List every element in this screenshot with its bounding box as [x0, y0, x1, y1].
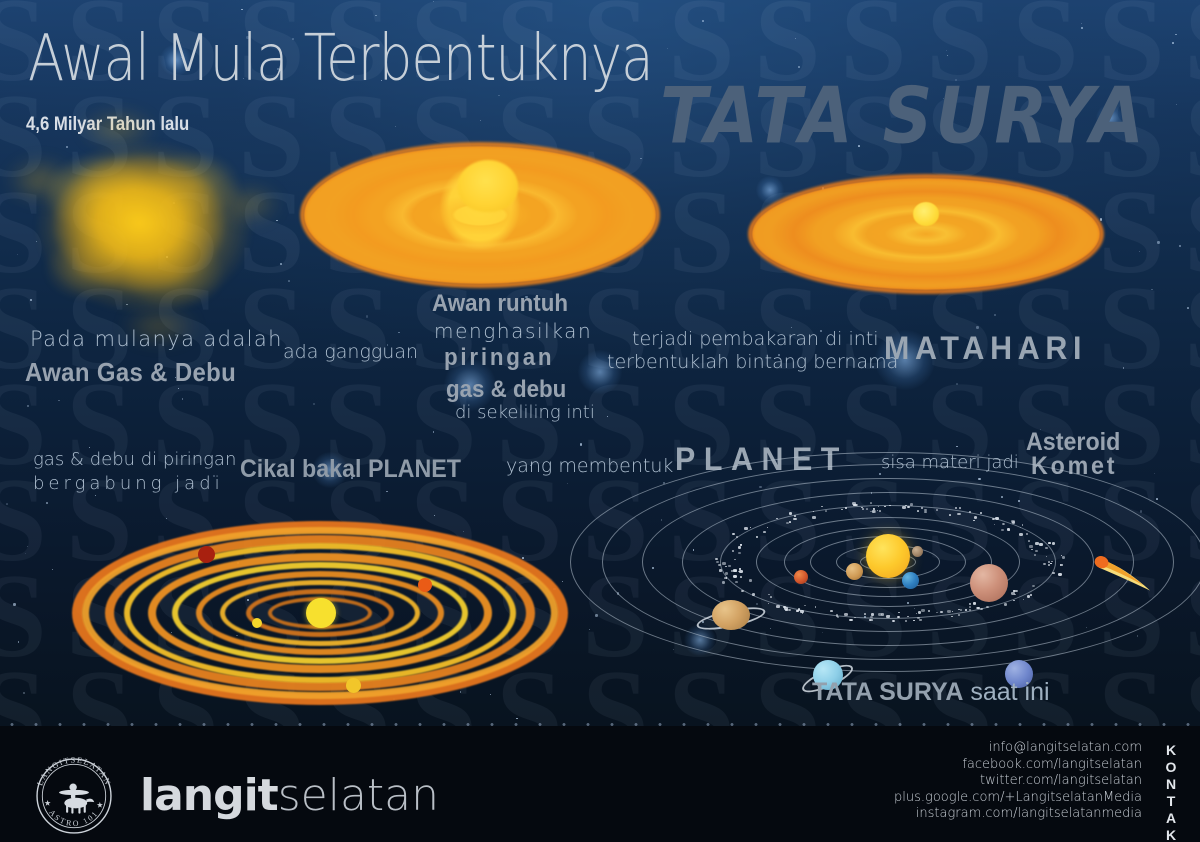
page-title-accent: TATA SURYA	[660, 72, 1147, 162]
asteroid-speck	[756, 536, 758, 537]
asteroid-speck	[1048, 564, 1050, 566]
asteroid-speck	[928, 610, 930, 612]
asteroid-speck	[969, 603, 971, 605]
asteroid-speck	[936, 509, 938, 511]
asteroid-speck	[921, 609, 925, 612]
star	[580, 443, 582, 445]
asteroid-speck	[836, 614, 839, 616]
brand-wordmark-bold: langit	[140, 770, 278, 821]
asteroid-speck	[902, 506, 905, 509]
asteroid-speck	[955, 507, 957, 509]
asteroid-speck	[873, 508, 875, 510]
asteroid-speck	[907, 616, 908, 617]
asteroid-speck	[830, 610, 833, 612]
star	[1100, 218, 1102, 220]
asteroid-speck	[1039, 543, 1042, 546]
star	[58, 400, 60, 402]
star	[798, 66, 800, 68]
footer-bar: LANGITSELATAN ★ ASTRO 101 ★ l	[0, 726, 1200, 842]
sun	[866, 534, 910, 578]
star	[994, 314, 996, 316]
star	[1157, 241, 1159, 243]
brand-wordmark: langitselatan	[140, 770, 439, 821]
asteroid-speck	[1004, 603, 1007, 606]
asteroid-speck	[949, 514, 952, 516]
star	[947, 55, 948, 56]
star	[976, 326, 978, 328]
asteroid-speck	[725, 572, 728, 575]
asteroid-speck	[1052, 572, 1054, 574]
asteroid-speck	[1030, 594, 1032, 596]
mars	[794, 570, 808, 584]
kontak-letter: K	[1160, 742, 1182, 759]
star	[241, 9, 242, 10]
asteroid-speck	[739, 570, 742, 573]
contact-list: info@langitselatan.com facebook.com/lang…	[894, 740, 1142, 823]
star	[589, 629, 590, 630]
contact-facebook[interactable]: facebook.com/langitselatan	[894, 757, 1142, 774]
asteroid-speck	[910, 503, 913, 505]
asteroid-speck	[872, 510, 876, 513]
star	[366, 315, 368, 317]
star	[480, 120, 481, 121]
watermark-letter: S	[1184, 76, 1200, 196]
asteroid-speck	[980, 512, 982, 514]
star	[375, 15, 377, 17]
asteroid-speck	[1029, 545, 1033, 548]
asteroid-speck	[994, 524, 995, 525]
contact-instagram[interactable]: instagram.com/langitselatanmedia	[894, 806, 1142, 823]
stage3-line5: di sekeliling inti	[455, 402, 595, 423]
kontak-letter: T	[1160, 793, 1182, 810]
star	[18, 641, 20, 643]
mercury	[912, 546, 923, 557]
watermark-letter: S	[1098, 268, 1165, 388]
star	[395, 126, 396, 127]
asteroid-speck	[844, 613, 847, 616]
star	[46, 502, 48, 504]
asteroid-speck	[969, 511, 971, 513]
watermark-letter: S	[1184, 172, 1200, 292]
asteroid-speck	[763, 531, 765, 533]
asteroid-speck	[722, 581, 725, 584]
star	[434, 515, 435, 516]
asteroid-speck	[802, 612, 803, 613]
asteroid-speck	[917, 617, 920, 619]
brand-wordmark-light: selatan	[278, 770, 439, 821]
asteroid-speck	[936, 612, 938, 613]
asteroid-speck	[965, 609, 967, 611]
watermark-letter: S	[668, 172, 735, 292]
asteroid-speck	[812, 516, 816, 519]
asteroid-speck	[796, 610, 798, 612]
star	[1179, 245, 1181, 247]
asteroid-speck	[776, 605, 780, 608]
asteroid-speck	[734, 559, 736, 560]
asteroid-speck	[917, 510, 919, 512]
asteroid-speck	[789, 521, 791, 523]
watermark-letter: S	[1184, 268, 1200, 388]
asteroid-speck	[845, 507, 847, 509]
star	[702, 20, 704, 22]
asteroid-speck	[871, 613, 874, 615]
asteroid-speck	[1001, 529, 1004, 531]
asteroid-speck	[919, 619, 921, 621]
asteroid-speck	[715, 558, 718, 560]
star	[386, 491, 387, 492]
protoplanet	[346, 678, 361, 693]
asteroid-speck	[1031, 549, 1033, 551]
protoplanet	[418, 578, 432, 592]
asteroid-speck	[974, 516, 977, 519]
infographic-poster: SSSSSSSSSSSSSSSSSSSSSSSSSSSSSSSSSSSSSSSS…	[0, 0, 1200, 842]
star	[1139, 251, 1140, 252]
watermark-letter: S	[324, 268, 391, 388]
asteroid-speck	[725, 566, 727, 567]
stage5-line2: bergabung jadi	[33, 473, 224, 494]
star	[27, 546, 28, 547]
asteroid-speck	[995, 517, 999, 520]
star	[1123, 367, 1125, 369]
star	[1081, 23, 1083, 25]
disk-star-core	[913, 202, 939, 226]
star	[1081, 27, 1083, 29]
watermark-letter: S	[1184, 0, 1200, 100]
stage5-line1: gas & debu di piringan	[33, 449, 236, 470]
protoplanet	[252, 618, 262, 628]
star	[288, 280, 290, 282]
star	[667, 48, 668, 49]
contact-email[interactable]: info@langitselatan.com	[894, 740, 1142, 757]
venus	[846, 563, 863, 580]
asteroid-speck	[1048, 542, 1050, 544]
asteroid-speck	[1035, 542, 1039, 545]
kontak-vertical-label: KONTAK	[1160, 742, 1182, 842]
star	[1187, 307, 1189, 309]
protoplanetary-disk-with-planets	[70, 518, 570, 708]
star	[95, 495, 96, 496]
star	[25, 553, 26, 554]
asteroid-speck	[1052, 542, 1055, 545]
asteroid-speck	[1013, 600, 1014, 601]
asteroid-speck	[1019, 533, 1022, 536]
kontak-letter: K	[1160, 827, 1182, 842]
kontak-letter: N	[1160, 776, 1182, 793]
asteroid-speck	[749, 579, 753, 582]
asteroid-speck	[1026, 533, 1028, 534]
asteroid-speck	[728, 565, 730, 567]
contact-googleplus[interactable]: plus.google.com/+LangitselatanMedia	[894, 790, 1142, 807]
stage3-line2: menghasilkan	[434, 319, 592, 343]
saturn	[712, 600, 750, 630]
stage4-line1: terjadi pembakaran di inti	[632, 328, 879, 350]
star	[795, 38, 796, 39]
page-title: Awal Mula Terbentuknya	[28, 22, 653, 96]
asteroid-speck	[738, 546, 741, 549]
asteroid-speck	[770, 596, 773, 598]
asteroid-speck	[969, 609, 971, 611]
jupiter	[970, 564, 1008, 602]
star	[516, 718, 517, 719]
star	[1176, 104, 1178, 106]
star	[956, 446, 957, 447]
star	[13, 603, 15, 605]
star	[313, 403, 315, 405]
solar-system-caption-bold: TATA SURYA	[812, 678, 963, 706]
contact-twitter[interactable]: twitter.com/langitselatan	[894, 773, 1142, 790]
stage3-line4: gas & debu	[446, 376, 566, 404]
disk-early-core	[458, 160, 518, 212]
star	[27, 405, 28, 406]
asteroid-speck	[1007, 528, 1010, 531]
star	[23, 692, 25, 694]
asteroid-speck	[1045, 547, 1048, 549]
star	[182, 398, 184, 400]
asteroid-speck	[1002, 523, 1004, 525]
asteroid-speck	[789, 512, 793, 515]
stage3-line3: piringan	[444, 344, 554, 372]
star	[640, 158, 642, 160]
watermark-letter: S	[1012, 268, 1079, 388]
asteroid-speck	[740, 544, 741, 545]
asteroid-speck	[861, 507, 863, 508]
star	[946, 50, 947, 51]
asteroid-speck	[924, 509, 927, 511]
stage3-line1: Awan runtuh	[432, 290, 568, 318]
asteroid-speck	[1011, 520, 1014, 523]
asteroid-speck	[793, 518, 796, 520]
stage1-caption-line1: Pada mulanya adalah	[30, 327, 283, 351]
asteroid-speck	[854, 617, 856, 618]
stage2-caption: ada gangguan	[283, 341, 418, 363]
star	[398, 332, 400, 334]
asteroid-speck	[976, 607, 979, 609]
watermark-letter: S	[0, 556, 47, 676]
stage4-line2: terbentuklah bintang bernama	[607, 351, 898, 373]
kontak-letter: A	[1160, 810, 1182, 827]
solar-system-caption-light: saat ini	[963, 678, 1049, 706]
watermark-letter: S	[1098, 172, 1165, 292]
stage4-label-matahari: MATAHARI	[884, 330, 1087, 367]
protoplanet	[198, 546, 215, 563]
asteroid-speck	[744, 527, 748, 530]
star	[1172, 42, 1174, 44]
asteroid-speck	[732, 550, 734, 552]
watermark-letter: S	[1184, 364, 1200, 484]
stage5-label-cikal-bakal-planet: Cikal bakal PLANET	[240, 455, 461, 484]
asteroid-speck	[905, 620, 907, 621]
star	[956, 383, 958, 385]
asteroid-speck	[719, 569, 722, 571]
star	[433, 431, 434, 432]
star	[567, 483, 568, 484]
star	[6, 503, 8, 505]
asteroid-speck	[1058, 573, 1062, 576]
langitselatan-seal-logo: LANGITSELATAN ★ ASTRO 101 ★	[30, 752, 118, 840]
star	[607, 416, 608, 417]
star	[433, 1, 434, 2]
asteroid-speck	[980, 608, 983, 611]
star	[1151, 289, 1153, 291]
gas-cloud-illustration	[20, 122, 268, 332]
asteroid-speck	[947, 610, 951, 613]
protoplanetary-central-star	[306, 598, 336, 628]
kontak-letter: O	[1160, 759, 1182, 776]
star	[52, 569, 53, 570]
star	[1154, 473, 1155, 474]
stage6-caption: yang membentuk	[506, 455, 673, 477]
asteroid-speck	[886, 615, 890, 618]
asteroid-speck	[1060, 564, 1062, 566]
star	[1175, 34, 1177, 36]
asteroid-speck	[1062, 556, 1065, 559]
disk-star-edge	[748, 174, 1104, 294]
solar-system-caption: TATA SURYA saat ini	[812, 678, 1050, 707]
earth	[902, 572, 919, 589]
asteroid-speck	[718, 564, 721, 567]
star	[595, 614, 597, 616]
asteroid-speck	[722, 562, 726, 565]
stage1-caption-line2: Awan Gas & Debu	[25, 357, 236, 388]
